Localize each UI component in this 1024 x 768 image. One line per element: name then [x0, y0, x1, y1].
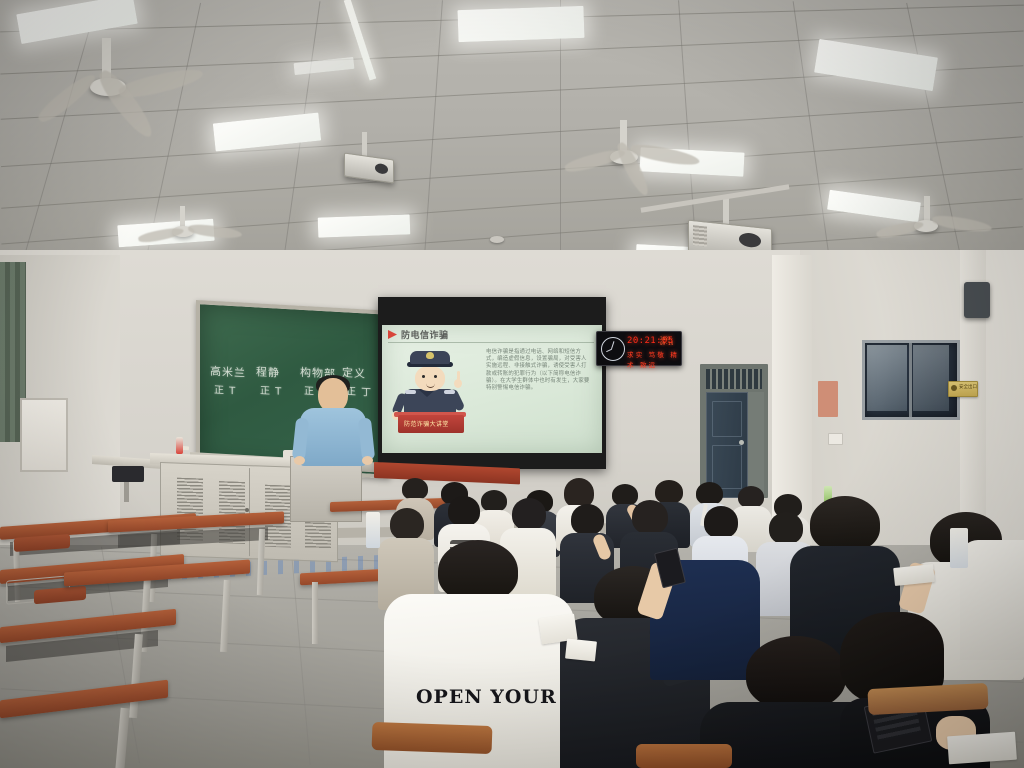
projector-mount: [723, 196, 729, 226]
wall-speaker: [964, 282, 990, 318]
water-bottle[interactable]: [950, 528, 968, 568]
ceiling-light-panel: [814, 39, 938, 91]
slide-bullet-icon: [388, 330, 397, 339]
student-top: [960, 540, 1024, 660]
student-hair: [512, 498, 546, 530]
chalk-heading: 程静: [256, 363, 280, 380]
presenter: [300, 378, 366, 468]
clock-face-icon: [601, 337, 625, 361]
door-jamb: [746, 392, 764, 496]
ceiling-light-panel: [318, 214, 411, 237]
smoke-detector-icon: [490, 236, 504, 243]
student-hair: [402, 478, 428, 500]
slide-divider: [388, 342, 594, 343]
led-subtitle: 求实 笃敬 精术 致远: [627, 349, 681, 369]
student-hair: [571, 504, 604, 535]
student-chair[interactable]: [636, 744, 732, 768]
projector-secondary: [344, 152, 394, 183]
ceiling-light-panel: [294, 57, 355, 75]
projection-screen: 防电信诈骗 防范诈骗大讲堂 电信诈骗是指通过电话、网络和短信方式，编: [382, 325, 602, 453]
student-hair: [696, 482, 723, 505]
student-hair: [670, 512, 740, 566]
water-bottle[interactable]: [366, 512, 380, 548]
ceiling-light-panel: [213, 113, 321, 152]
ceiling-light-panel: [457, 6, 584, 42]
student-front: [960, 540, 1024, 660]
door-transom-grille: [706, 369, 762, 389]
slide-body-text: 电信诈骗是指通过电话、网络和短信方式，编造虚假信息，设置骗局，对受害人实施远程、…: [486, 349, 592, 392]
plaque-seal-icon: [951, 385, 957, 391]
student-hair: [448, 496, 480, 526]
fire-equipment-box: [818, 381, 838, 417]
chalk-marks: 正 T: [214, 381, 236, 397]
notebook[interactable]: [947, 732, 1017, 765]
wall-socket: [828, 433, 843, 445]
chalk-heading: 高米兰: [210, 363, 246, 381]
student-hair: [438, 540, 518, 602]
side-window: [862, 340, 960, 420]
presenter-head: [318, 378, 348, 412]
led-date: 2023-09-14: [660, 337, 681, 347]
police-officer-icon: 防范诈骗大讲堂: [396, 349, 470, 431]
student-hair: [390, 508, 424, 540]
presenter-shirt: [300, 408, 366, 466]
notebook[interactable]: [565, 638, 597, 661]
projector-mount: [362, 132, 367, 158]
teacher-chair[interactable]: [112, 466, 146, 500]
student-desk: [64, 566, 254, 646]
student-hair: [810, 496, 880, 552]
student-hair: [746, 636, 846, 710]
student-chair[interactable]: [372, 722, 493, 754]
led-clock-display: 20:21:05 2023-09-14 求实 笃敬 精术 致远: [596, 331, 682, 366]
ceiling-fan: [60, 38, 210, 168]
chalk-marks: 正 T: [260, 382, 282, 398]
thermos-bottle: [176, 437, 183, 454]
classroom-photo: 高米兰 正 T 程静 正 T 构物部 正 丁 定义 正 丁 防电信诈骗: [0, 0, 1024, 768]
side-whiteboard: [20, 398, 68, 472]
presenter-hand: [362, 456, 373, 465]
door-knob[interactable]: [739, 440, 744, 445]
student-desk: [0, 690, 170, 768]
plaque-text: 安全出口: [959, 384, 977, 390]
slide-podium-label: 防范诈骗大讲堂: [404, 419, 449, 428]
slide-title: 防电信诈骗: [401, 328, 449, 341]
student-hair: [738, 486, 764, 508]
presenter-hand: [294, 456, 305, 465]
ceiling-fan: [580, 120, 720, 230]
